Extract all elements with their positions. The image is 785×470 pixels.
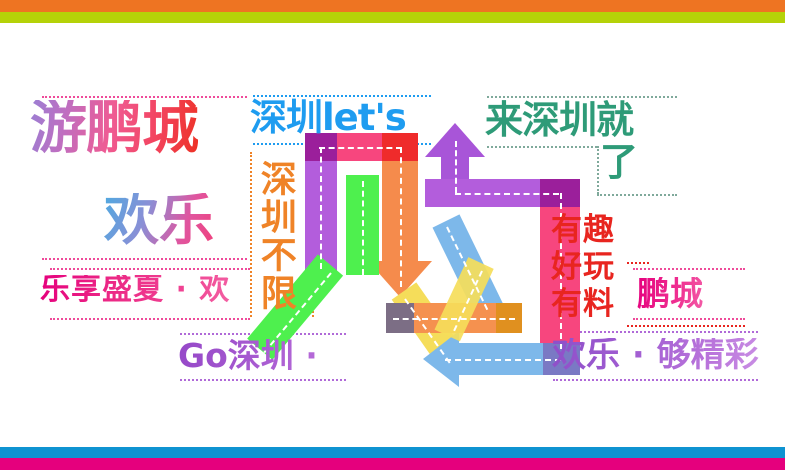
- tagline-you-qu: 有趣: [551, 215, 615, 246]
- rule-pengcheng-bottom: [633, 318, 745, 320]
- headline-lai-shenzhen-jiu: 来深圳就: [485, 101, 633, 139]
- rule-youliao-right: [627, 262, 649, 264]
- rule-lexiang-bottom: [50, 318, 250, 320]
- gou-dash-purple-horizontal: [455, 193, 559, 195]
- tagline-go-shenzhen: Go深圳 ·: [178, 339, 318, 372]
- tagline-hao-wan: 好玩: [551, 252, 615, 283]
- gou-dash-purple-up: [455, 141, 457, 193]
- tagline-huan-le-gou-jing-cai: 欢乐 · 够精彩: [552, 338, 759, 372]
- rule-go-bottom: [180, 379, 346, 381]
- gou-character-graphic: [305, 133, 585, 373]
- headline-huan-le: 欢乐: [104, 193, 214, 248]
- gou-dash-left-vertical: [320, 147, 322, 269]
- headline-you-peng-cheng: 游鹏城: [30, 100, 198, 157]
- rule-huanle-bottom: [42, 258, 247, 260]
- rule-huanlegou-bottom: [553, 379, 758, 381]
- vertical-shenzhen-bu-xian: 深圳不限: [256, 160, 293, 312]
- tagline-peng-cheng: 鹏城: [637, 277, 703, 310]
- tagline-you-liao: 有料: [551, 289, 615, 320]
- gou-dash-orange-vertical: [400, 147, 402, 287]
- gou-dash-blue-horizontal: [445, 359, 561, 361]
- top-band-orange: [0, 0, 785, 12]
- rule-youqu-right: [627, 325, 745, 327]
- gou-dash-top-horizontal: [319, 147, 402, 149]
- bottom-band-blue: [0, 447, 785, 458]
- gou-dash-inner-horizontal: [393, 318, 515, 320]
- poster-canvas: 游鹏城 欢乐 乐享盛夏 · 欢 深圳let's 深圳不限 来深圳就 了 有趣 好…: [0, 0, 785, 470]
- bottom-band-magenta: [0, 458, 785, 470]
- gou-dash-green-vertical: [362, 181, 364, 275]
- headline-shenzhen-lets: 深圳let's: [250, 99, 406, 136]
- headline-le: 了: [600, 143, 638, 181]
- top-band-green: [0, 12, 785, 23]
- rule-buxian-left: [250, 152, 252, 317]
- rule-pengcheng-top: [633, 268, 745, 270]
- subtitle-le-xiang-sheng-xia: 乐享盛夏 · 欢: [40, 275, 230, 305]
- rule-lai-bottom: [597, 194, 677, 196]
- rule-lexiang-top: [50, 268, 250, 270]
- rule-lai-vert: [597, 146, 599, 194]
